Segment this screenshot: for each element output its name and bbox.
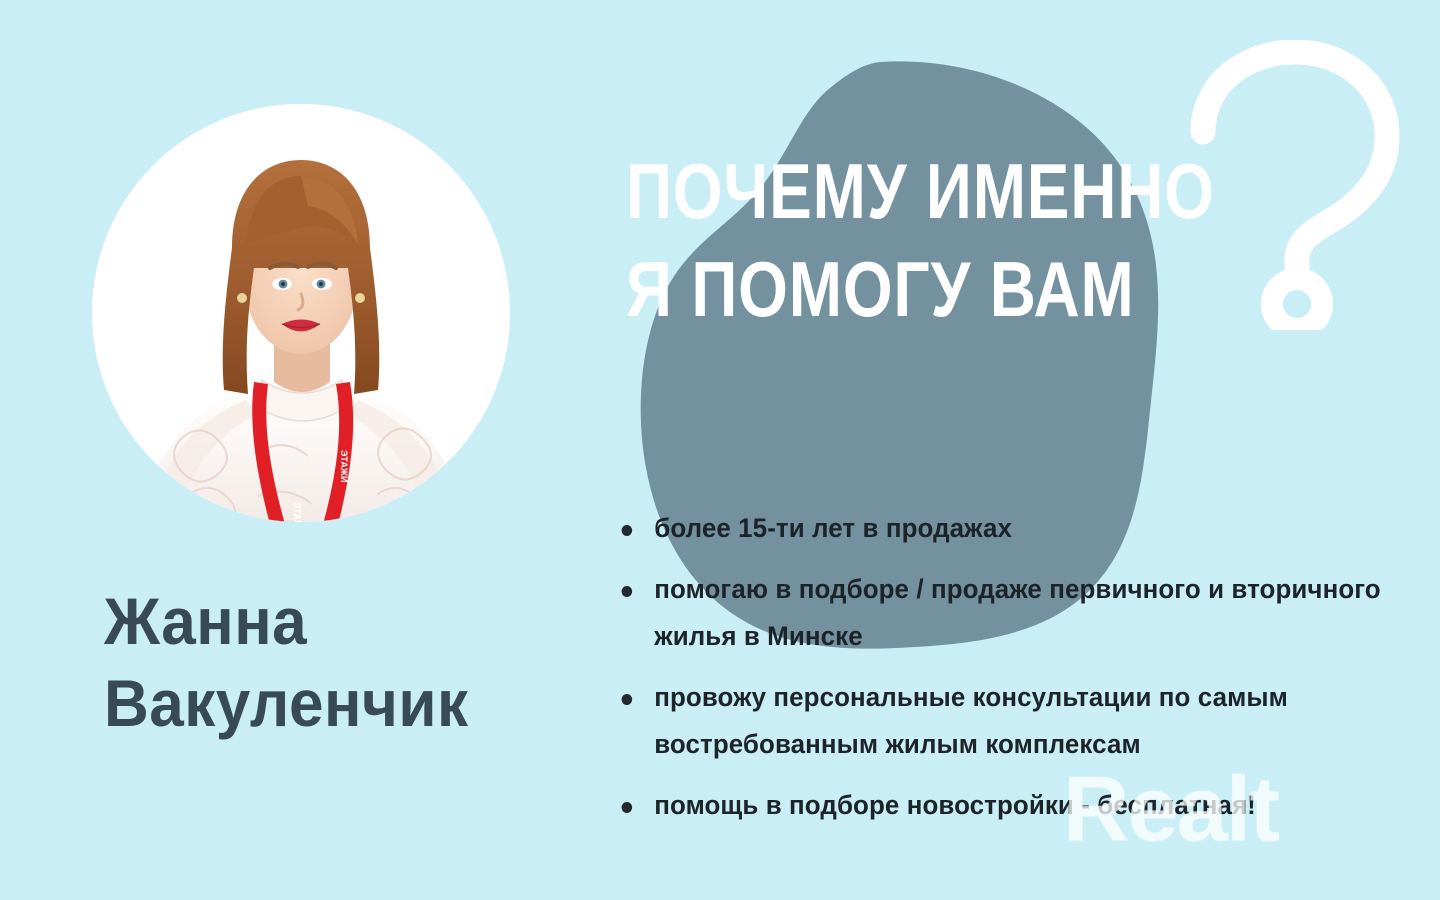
list-item: провожу персональные консультации по сам… [612, 674, 1397, 768]
list-item: более 15-ти лет в продажах [612, 505, 1397, 552]
page-title: ПОЧЕМУ ИМЕННО Я ПОМОГУ ВАМ [626, 142, 1200, 338]
benefit-text: провожу персональные консультации по сам… [654, 682, 1288, 759]
bullet-dot-icon [622, 694, 633, 705]
benefit-text: помогаю в подборе / продаже первичного и… [654, 574, 1380, 651]
agent-photo: ЭТАЖИ ЭТАЖИ [86, 98, 516, 546]
benefit-text: более 15-ти лет в продажах [654, 513, 1012, 543]
agent-first-name: Жанна [104, 580, 574, 662]
bullet-dot-icon [622, 586, 633, 597]
benefit-text: помощь в подборе новостройки - бесплатна… [654, 790, 1256, 820]
page-title-line-1: ПОЧЕМУ ИМЕННО [626, 142, 1200, 240]
question-mark-icon [1185, 40, 1405, 330]
page-title-line-2: Я ПОМОГУ ВАМ [626, 240, 1200, 338]
bullet-dot-icon [622, 525, 633, 536]
list-item: помогаю в подборе / продаже первичного и… [612, 566, 1397, 660]
bullet-dot-icon [622, 802, 633, 813]
promo-slide: ЭТАЖИ ЭТАЖИ ПОЧЕМУ ИМЕННО Я ПОМОГУ ВАМ Ж… [0, 0, 1440, 900]
list-item: помощь в подборе новостройки - бесплатна… [612, 782, 1397, 829]
svg-text:ЭТАЖИ: ЭТАЖИ [292, 502, 302, 534]
avatar: ЭТАЖИ ЭТАЖИ [92, 104, 510, 522]
benefits-list: более 15-ти лет в продажах помогаю в под… [612, 505, 1430, 843]
agent-name: Жанна Вакуленчик [104, 580, 574, 744]
agent-last-name: Вакуленчик [104, 662, 574, 744]
svg-text:ЭТАЖИ: ЭТАЖИ [339, 450, 349, 482]
